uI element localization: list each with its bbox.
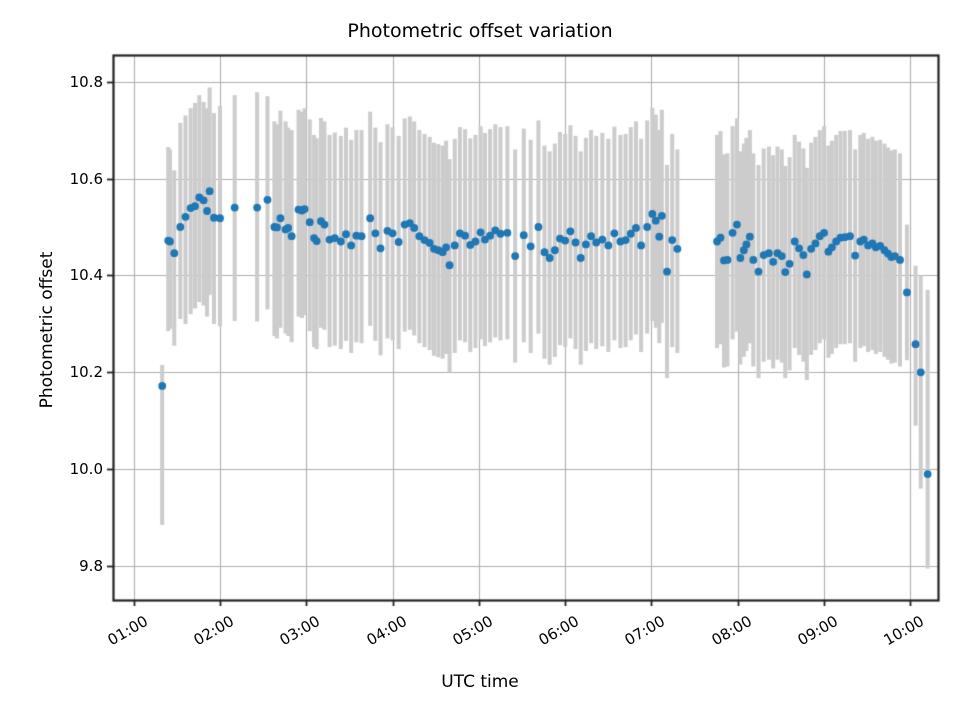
photometric-offset-scatter-plot: [0, 0, 960, 720]
chart-figure: Photometric offset variation UTC time Ph…: [0, 0, 960, 720]
